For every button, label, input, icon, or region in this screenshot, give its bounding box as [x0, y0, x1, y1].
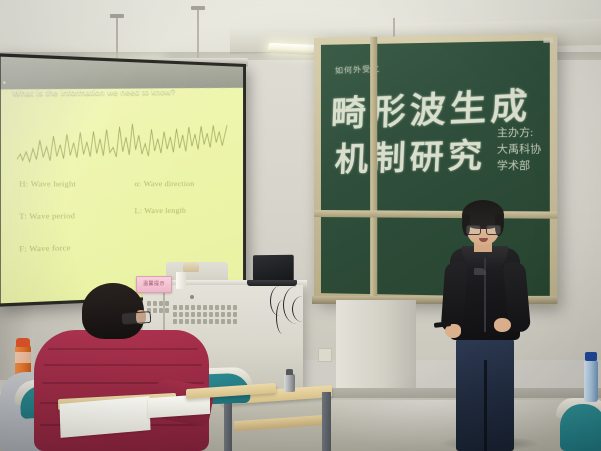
chair-back-far-right[interactable]: [560, 404, 601, 451]
cup-lid: [183, 262, 199, 272]
chalkboard-vertical-divider: [370, 37, 377, 301]
chalkboard-label-tag: [543, 37, 553, 42]
presenter-leg-gap: [484, 360, 487, 451]
paper-cup: [176, 272, 186, 289]
slide-list-item-1: T: Wave period: [19, 211, 75, 221]
slide-title-band: [1, 57, 243, 90]
orange-bottle-cap: [16, 338, 30, 347]
student-head: [82, 283, 144, 339]
laptop-keyboard-base[interactable]: [247, 280, 297, 286]
thermos-cap: [286, 369, 293, 375]
slide-bullet-marker: •: [3, 80, 6, 88]
blue-bottle-cap: [585, 352, 597, 361]
podium-lock[interactable]: [190, 295, 194, 299]
wall-outlet: [318, 348, 332, 362]
classroom-photo: 安全出口 • What is the information we need t…: [0, 0, 601, 451]
podium-vent-left: [147, 301, 169, 313]
orange-bottle-label: [15, 352, 31, 363]
presenter-jacket-logo: [474, 268, 486, 275]
glasses-icon: [122, 311, 152, 325]
slide-list-item-0: H: Wave height: [19, 179, 76, 189]
metal-thermos: [284, 374, 295, 392]
irregular-wave-chart: [17, 120, 227, 171]
desk-leg-right: [322, 392, 331, 451]
chalkboard-side-note: 主办方: 大禹科协 学术部: [497, 126, 541, 176]
slide-list-item-4: L: Wave length: [135, 206, 187, 216]
slide-list-item-3: α: Wave direction: [135, 179, 195, 188]
podium-vent-right: [173, 305, 237, 324]
podium-pink-sign: 温馨提示: [136, 276, 172, 293]
slide-list-item-2: F: Wave force: [19, 243, 70, 254]
blue-water-bottle: [584, 360, 598, 402]
desk-leg-left: [224, 396, 232, 451]
slide-title: What is the information we need to know?: [12, 87, 242, 98]
glasses-icon: [466, 225, 500, 233]
laptop-screen[interactable]: [253, 255, 294, 281]
chalkboard-headline-line2: 机制研究: [334, 128, 488, 181]
presenter-right-hand: [494, 318, 511, 332]
